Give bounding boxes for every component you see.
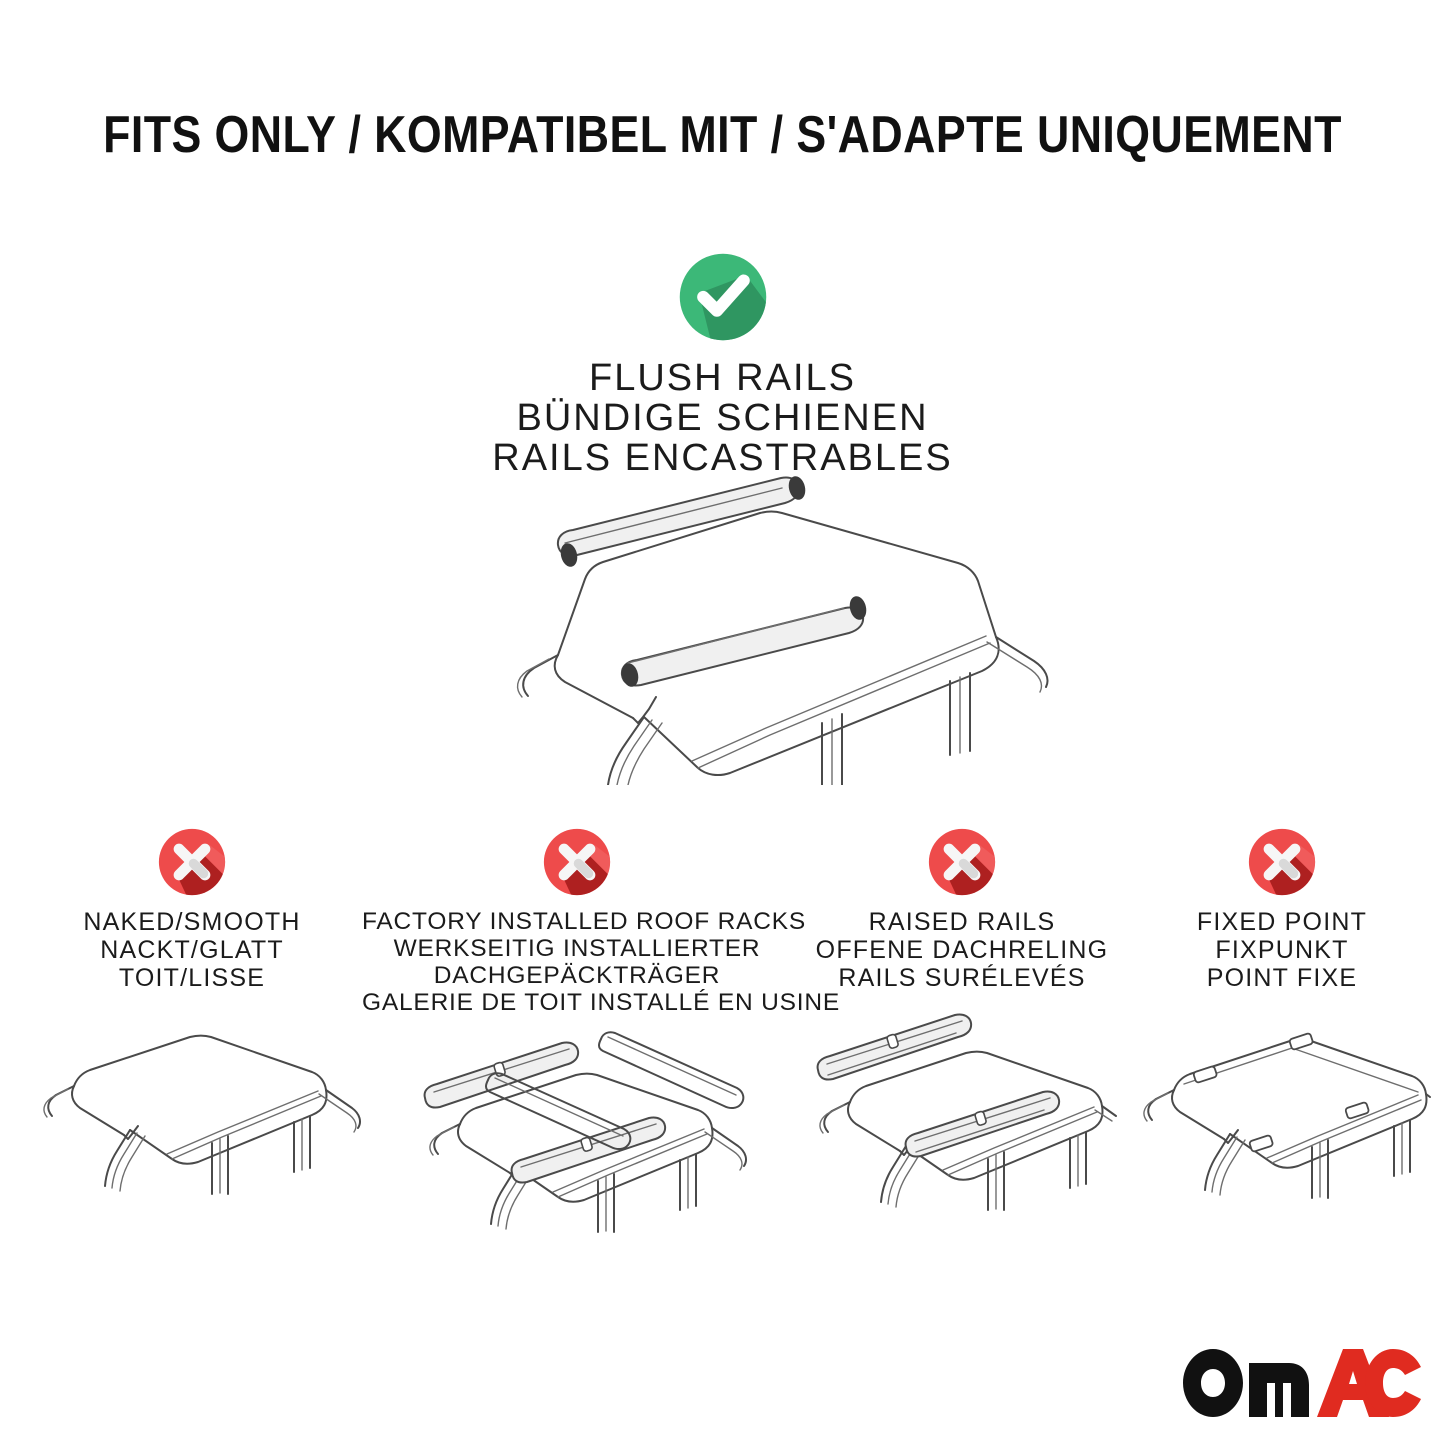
incompatible-label-en: FIXED POINT: [1132, 908, 1432, 936]
incompatible-label-fr: RAILS SURÉLEVÉS: [802, 964, 1122, 992]
check-circle-icon: [676, 250, 770, 344]
page-title: FITS ONLY / KOMPATIBEL MIT / S'ADAPTE UN…: [101, 103, 1344, 167]
incompatible-labels: FACTORY INSTALLED ROOF RACKS WERKSEITIG …: [362, 908, 792, 1016]
cross-circle-icon: [1246, 826, 1318, 898]
incompatible-label-de: OFFENE DACHRELING: [802, 936, 1122, 964]
incompatible-section: NAKED/SMOOTH NACKT/GLATT TOIT/LISSE: [0, 826, 1445, 1258]
incompatible-label-de-1: WERKSEITIG INSTALLIERTER: [362, 935, 792, 962]
compatible-label-en: FLUSH RAILS: [0, 358, 1445, 398]
incompatible-item-factory-roof-racks: FACTORY INSTALLED ROOF RACKS WERKSEITIG …: [362, 826, 792, 1258]
car-roof-fixed-point-illustration: [1132, 1004, 1432, 1234]
car-roof-with-flush-rails-illustration: [430, 455, 1070, 785]
cross-circle-icon: [926, 826, 998, 898]
incompatible-label-de-2: DACHGEPÄCKTRÄGER: [362, 962, 792, 989]
compatible-section: FLUSH RAILS BÜNDIGE SCHIENEN RAILS ENCAS…: [0, 250, 1445, 478]
incompatible-label-fr: POINT FIXE: [1132, 964, 1432, 992]
incompatible-label-en: NAKED/SMOOTH: [22, 908, 362, 936]
incompatible-labels: RAISED RAILS OFFENE DACHRELING RAILS SUR…: [802, 908, 1122, 992]
incompatible-label-fr: GALERIE DE TOIT INSTALLÉ EN USINE: [362, 989, 792, 1016]
incompatible-label-en: FACTORY INSTALLED ROOF RACKS: [362, 908, 792, 935]
car-roof-factory-installed-roof-racks-illustration: [362, 1028, 792, 1258]
incompatible-label-de: NACKT/GLATT: [22, 936, 362, 964]
compatible-label-de: BÜNDIGE SCHIENEN: [0, 398, 1445, 438]
cross-circle-icon: [156, 826, 228, 898]
incompatible-labels: FIXED POINT FIXPUNKT POINT FIXE: [1132, 908, 1432, 992]
incompatible-labels: NAKED/SMOOTH NACKT/GLATT TOIT/LISSE: [22, 908, 362, 992]
car-roof-naked-smooth-illustration: [22, 1004, 362, 1234]
car-roof-raised-rails-illustration: [802, 1004, 1122, 1234]
cross-circle-icon: [541, 826, 613, 898]
incompatible-item-naked-smooth: NAKED/SMOOTH NACKT/GLATT TOIT/LISSE: [22, 826, 362, 1234]
incompatible-label-en: RAISED RAILS: [802, 908, 1122, 936]
incompatible-item-raised-rails: RAISED RAILS OFFENE DACHRELING RAILS SUR…: [802, 826, 1122, 1234]
incompatible-label-de: FIXPUNKT: [1132, 936, 1432, 964]
incompatible-item-fixed-point: FIXED POINT FIXPUNKT POINT FIXE: [1132, 826, 1432, 1234]
omac-logo: [1177, 1343, 1427, 1423]
incompatible-label-fr: TOIT/LISSE: [22, 964, 362, 992]
